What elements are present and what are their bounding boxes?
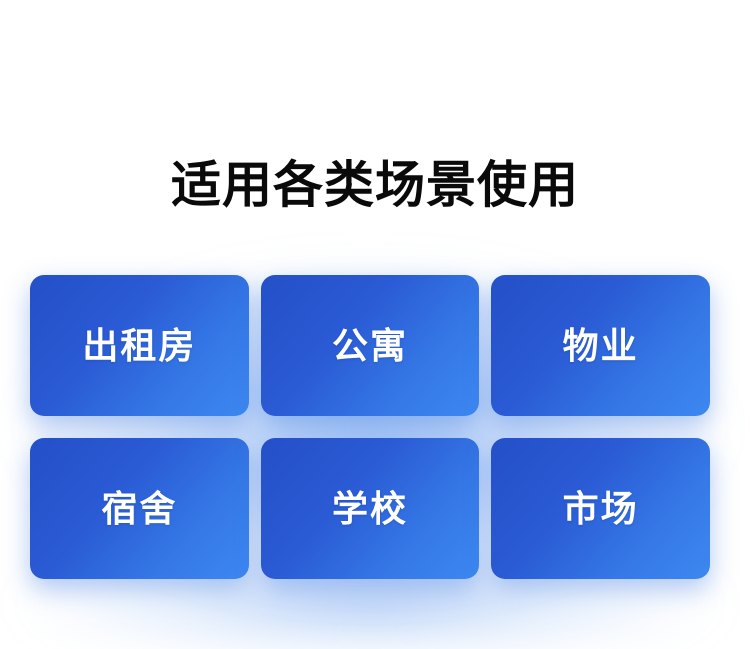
scenario-card-grid: 出租房 公寓 物业 宿舍 学校 市场 <box>30 275 710 579</box>
scenario-card-dormitory[interactable]: 宿舍 <box>30 438 249 579</box>
scenario-card-label: 学校 <box>332 487 408 531</box>
scenario-card-market[interactable]: 市场 <box>491 438 710 579</box>
scenario-card-apartment[interactable]: 公寓 <box>261 275 480 416</box>
scenario-card-property[interactable]: 物业 <box>491 275 710 416</box>
scenario-card-school[interactable]: 学校 <box>261 438 480 579</box>
page-title: 适用各类场景使用 <box>0 155 750 215</box>
scenario-showcase-page: 适用各类场景使用 出租房 公寓 物业 宿舍 学校 市场 <box>0 0 750 649</box>
scenario-card-label: 宿舍 <box>101 487 177 531</box>
scenario-card-label: 物业 <box>563 324 639 368</box>
scenario-card-rental[interactable]: 出租房 <box>30 275 249 416</box>
scenario-card-label: 公寓 <box>332 324 408 368</box>
scenario-card-label: 出租房 <box>82 324 196 368</box>
scenario-card-label: 市场 <box>563 487 639 531</box>
